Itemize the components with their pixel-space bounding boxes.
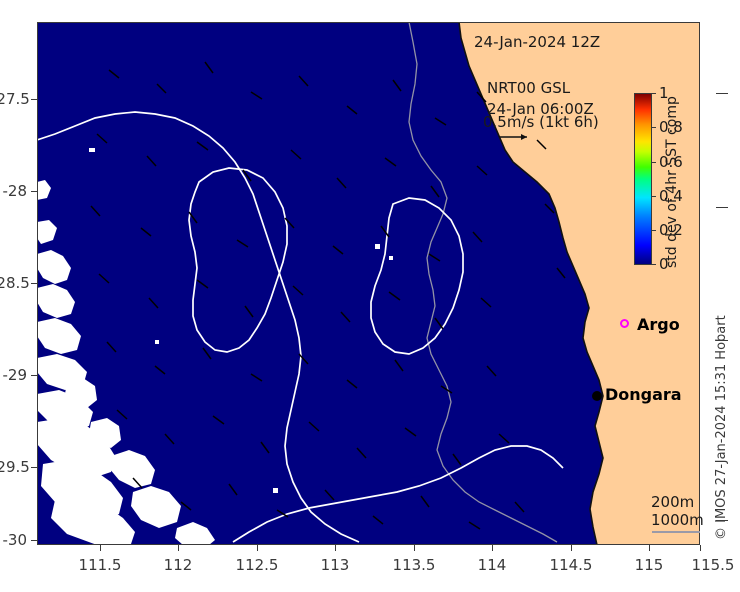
vector-scale-annotation: 0.5m/s (1kt 6h) — [483, 113, 599, 131]
bathy-200m-label: 200m — [651, 493, 694, 511]
xtick-mark — [492, 545, 493, 551]
argo-open-circle-marker-icon — [620, 319, 629, 328]
figure-edge-tick — [716, 207, 728, 208]
figure-edge-tick — [716, 93, 728, 94]
ytick-label: -27.5 — [0, 90, 27, 108]
xtick-label: 114 — [478, 556, 507, 574]
ytick-mark — [31, 375, 37, 376]
current-vectors — [91, 62, 565, 529]
ytick-mark — [31, 540, 37, 541]
ytick-mark — [31, 467, 37, 468]
bathy-legend-line — [652, 531, 700, 533]
ytick-label: -28 — [0, 182, 27, 200]
xtick-mark — [178, 545, 179, 551]
colorbar-tick — [652, 196, 656, 197]
colorbar-tick — [652, 127, 656, 128]
colorbar-tick — [652, 230, 656, 231]
ytick-mark — [31, 283, 37, 284]
dongara-place-label: Dongara — [605, 385, 682, 404]
xtick-label: 114.5 — [550, 556, 593, 574]
land-and-overlays — [37, 22, 700, 545]
xtick-mark — [649, 545, 650, 551]
ytick-mark — [31, 99, 37, 100]
ytick-label: -29 — [0, 366, 27, 384]
map-plot-area[interactable] — [37, 22, 700, 545]
bathy-1000m-label: 1000m — [651, 511, 704, 529]
xtick-mark — [257, 545, 258, 551]
sst-std-dev-map-figure: 111.5 112 112.5 113 113.5 114 114.5 115 … — [0, 0, 740, 592]
xtick-mark — [571, 545, 572, 551]
ytick-label: -30 — [0, 531, 27, 549]
xtick-label: 111.5 — [79, 556, 122, 574]
source-product-annotation: NRT00 GSL — [487, 79, 570, 97]
ytick-mark — [31, 191, 37, 192]
xtick-label: 112 — [164, 556, 193, 574]
colorbar-tick — [652, 264, 656, 265]
ytick-label: -29.5 — [0, 458, 27, 476]
ytick-label: -28.5 — [0, 274, 27, 292]
right-arrow-icon — [499, 132, 533, 142]
colorbar-gradient — [634, 93, 652, 265]
xtick-mark — [414, 545, 415, 551]
colorbar-title: std dev of 4hr SST comp — [664, 88, 680, 268]
argo-legend-label: Argo — [637, 315, 680, 334]
nodata-gaps — [37, 180, 215, 545]
timestamp-annotation: 24-Jan-2024 12Z — [474, 33, 600, 51]
bathy-contour-1000m — [189, 168, 287, 352]
xtick-label: 112.5 — [236, 556, 279, 574]
dongara-filled-circle-marker-icon — [592, 391, 602, 401]
colorbar: 1 0.8 0.6 0.4 0.2 0 — [634, 93, 652, 265]
xtick-mark — [335, 545, 336, 551]
xtick-label: 113 — [321, 556, 350, 574]
xtick-label: 113.5 — [393, 556, 436, 574]
credit-text: © IMOS 27-Jan-2024 15:31 Hobart — [714, 240, 729, 540]
nodata-specks — [89, 148, 393, 493]
xtick-label: 115 — [635, 556, 664, 574]
colorbar-tick — [652, 93, 656, 94]
bathy-contour-south — [233, 446, 563, 542]
xtick-mark — [700, 545, 701, 551]
xtick-label: 115.5 — [692, 556, 735, 574]
bathy-contour-east-lobe — [371, 198, 463, 354]
colorbar-tick — [652, 162, 656, 163]
xtick-mark — [100, 545, 101, 551]
